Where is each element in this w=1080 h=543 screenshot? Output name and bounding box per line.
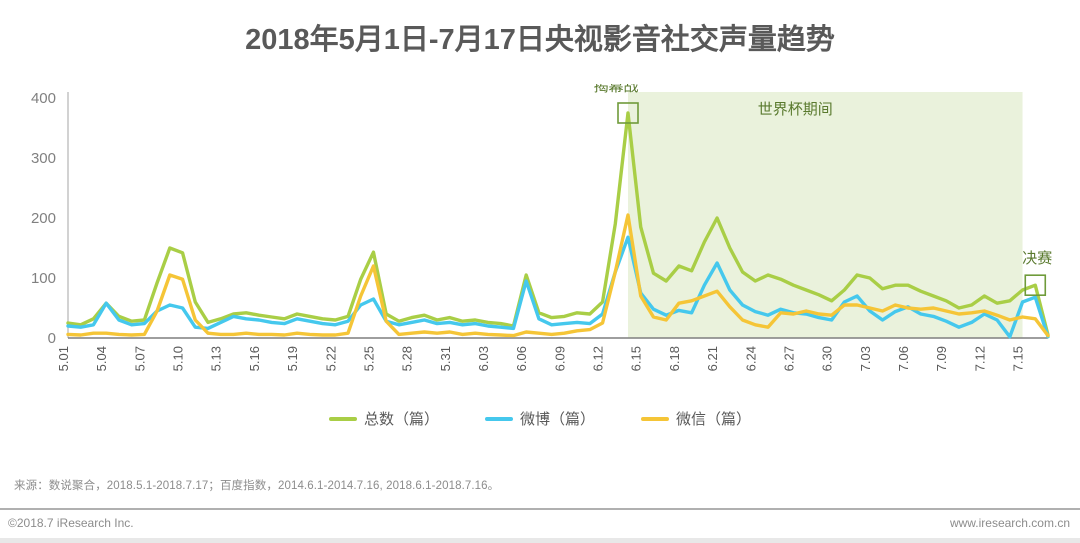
final-match-label: 决赛 <box>1022 250 1052 267</box>
page-title: 2018年5月1日-7月17日央视影音社交声量趋势 <box>0 16 1080 58</box>
x-axis-tick-label: 6.15 <box>629 346 644 371</box>
website-link[interactable]: www.iresearch.com.cn <box>950 516 1070 530</box>
x-axis-tick-label: 7.09 <box>934 346 949 371</box>
x-axis-tick-label: 5.01 <box>56 346 71 371</box>
x-axis-tick-label: 5.07 <box>132 346 147 371</box>
x-axis-tick-label: 5.16 <box>247 346 262 371</box>
x-axis-tick-label: 7.12 <box>972 346 987 371</box>
legend-item-weibo[interactable]: 微博（篇） <box>485 408 595 429</box>
y-axis-tick-label: 200 <box>31 210 56 227</box>
social-volume-line-chart: 01002003004005.015.045.075.105.135.165.1… <box>0 84 1080 384</box>
chart-legend: 总数（篇） 微博（篇） 微信（篇） <box>0 408 1080 429</box>
legend-item-wechat[interactable]: 微信（篇） <box>641 408 751 429</box>
y-axis-tick-label: 300 <box>31 150 56 167</box>
x-axis-tick-label: 6.09 <box>552 346 567 371</box>
x-axis-tick-label: 7.15 <box>1011 346 1026 371</box>
world-cup-period-label: 世界杯期间 <box>758 101 833 118</box>
x-axis-tick-label: 5.28 <box>400 346 415 371</box>
x-axis-tick-label: 6.30 <box>820 346 835 371</box>
legend-item-total[interactable]: 总数（篇） <box>329 408 439 429</box>
x-axis-tick-label: 5.19 <box>285 346 300 371</box>
x-axis-tick-label: 5.04 <box>94 346 109 371</box>
x-axis-tick-label: 6.27 <box>781 346 796 371</box>
x-axis-tick-label: 5.25 <box>361 346 376 371</box>
y-axis-tick-label: 0 <box>48 330 56 347</box>
y-axis-tick-label: 400 <box>31 90 56 107</box>
legend-swatch-weibo <box>485 417 513 421</box>
x-axis-tick-label: 7.03 <box>858 346 873 371</box>
x-axis-tick-label: 5.22 <box>323 346 338 371</box>
chart-plot-area: 01002003004005.015.045.075.105.135.165.1… <box>0 84 1080 364</box>
legend-swatch-total <box>329 417 357 421</box>
x-axis-tick-label: 6.18 <box>667 346 682 371</box>
legend-label-wechat: 微信（篇） <box>676 408 751 429</box>
x-axis-tick-label: 5.10 <box>171 346 186 371</box>
x-axis-tick-label: 5.13 <box>209 346 224 371</box>
legend-label-weibo: 微博（篇） <box>520 408 595 429</box>
x-axis-tick-label: 5.31 <box>438 346 453 371</box>
copyright-text: ©2018.7 iResearch Inc. <box>8 516 134 530</box>
x-axis-tick-label: 6.12 <box>591 346 606 371</box>
x-axis-tick-label: 6.03 <box>476 346 491 371</box>
footer-divider <box>0 508 1080 510</box>
opening-match-label: 揭幕战 <box>593 84 638 95</box>
x-axis-tick-label: 6.21 <box>705 346 720 371</box>
legend-swatch-wechat <box>641 417 669 421</box>
x-axis-tick-label: 6.24 <box>743 346 758 371</box>
bottom-bar <box>0 538 1080 543</box>
y-axis-tick-label: 100 <box>31 270 56 287</box>
legend-label-total: 总数（篇） <box>364 408 439 429</box>
x-axis-tick-label: 7.06 <box>896 346 911 371</box>
x-axis-tick-label: 6.06 <box>514 346 529 371</box>
source-note: 来源：数说聚合，2018.5.1-2018.7.17；百度指数，2014.6.1… <box>14 477 499 493</box>
